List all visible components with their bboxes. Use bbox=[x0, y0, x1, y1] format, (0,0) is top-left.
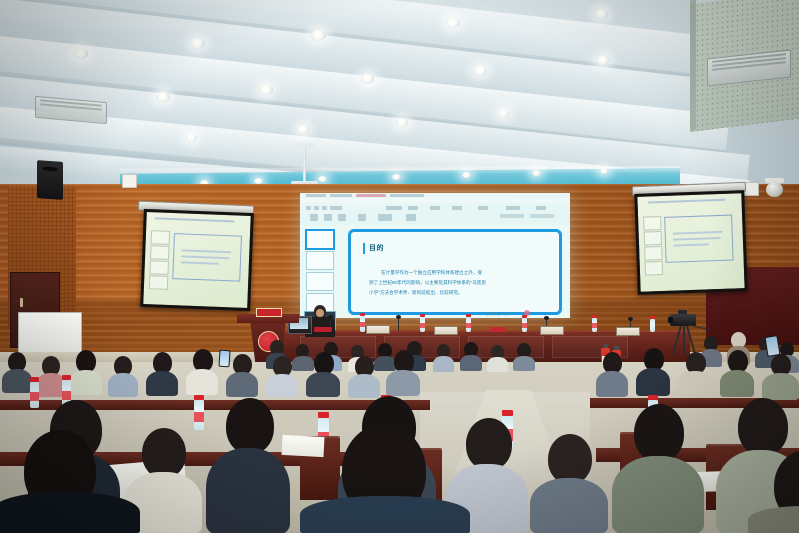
ribbon-tab-chip-3[interactable] bbox=[356, 194, 386, 197]
ribbon-command-b5[interactable] bbox=[378, 214, 392, 221]
door-handle bbox=[20, 298, 23, 307]
audience-person-mid-4 bbox=[108, 356, 138, 396]
dome-security-camera bbox=[766, 182, 783, 197]
slide-title: 目的 bbox=[369, 243, 384, 254]
audience-person-mid-r1 bbox=[596, 352, 628, 396]
projector-mount-pole bbox=[303, 147, 306, 183]
audience-person-mid-7 bbox=[226, 354, 258, 396]
downlight-10 bbox=[597, 56, 609, 65]
red-folder-on-table bbox=[490, 327, 506, 332]
left-projection-screen bbox=[140, 209, 254, 311]
slide-body-line-1: 在计量学作为一个独立应用学科体系建立之外，受 bbox=[381, 269, 553, 276]
presenter-face bbox=[316, 309, 324, 317]
audience-bottle-3 bbox=[194, 400, 204, 430]
projector-ceiling-plate bbox=[296, 143, 314, 148]
camera-viewfinder bbox=[678, 310, 687, 314]
ribbon-command-a10[interactable] bbox=[506, 206, 520, 210]
audience-person-mid-9 bbox=[306, 352, 340, 396]
ribbon-tab-chip-4[interactable] bbox=[390, 194, 424, 197]
downlight-4 bbox=[446, 18, 460, 28]
nameplate-3 bbox=[540, 326, 564, 335]
audience-person-mid-10 bbox=[348, 356, 380, 397]
smartphone-recording-center bbox=[218, 350, 230, 368]
podium-nameplate[interactable] bbox=[256, 308, 282, 317]
slide-thumbnail-2[interactable] bbox=[306, 251, 334, 270]
right-projection-screen bbox=[634, 190, 747, 295]
audience-person-mid-r2 bbox=[636, 348, 670, 395]
table-bottle-6 bbox=[650, 319, 655, 332]
audience-person-mid-5 bbox=[146, 352, 178, 395]
table-bottle-4 bbox=[522, 318, 527, 332]
audience-person-far-9 bbox=[487, 345, 508, 371]
ribbon-command-b1[interactable] bbox=[310, 214, 318, 221]
slide-thumbnail-1[interactable] bbox=[306, 230, 334, 249]
downlight-13 bbox=[498, 109, 509, 118]
audience-person-far-10 bbox=[513, 343, 535, 370]
slide-editing-canvas[interactable]: 目的 在计量学作为一个独立应用学科体系建立之外，受 到了上世纪80年代的影响，以… bbox=[336, 225, 570, 318]
ribbon-command-a6[interactable] bbox=[408, 206, 418, 210]
current-slide[interactable]: 目的 在计量学作为一个独立应用学科体系建立之外，受 到了上世纪80年代的影响，以… bbox=[348, 229, 562, 315]
slide-thumbnail-3[interactable] bbox=[306, 272, 334, 291]
downlight-9 bbox=[474, 66, 487, 76]
ribbon-command-a2[interactable] bbox=[314, 206, 319, 210]
audience-person-mid-1 bbox=[2, 352, 32, 392]
audience-person-near-7 bbox=[612, 404, 704, 533]
ribbon-command-b4[interactable] bbox=[358, 214, 366, 221]
acoustic-edge bbox=[690, 0, 696, 130]
audience-person-mid-8 bbox=[266, 356, 298, 396]
downlight-7 bbox=[259, 85, 273, 95]
ribbon-command-a7[interactable] bbox=[430, 206, 440, 210]
downlight-14 bbox=[186, 134, 197, 142]
downlight-6 bbox=[156, 92, 170, 102]
ribbon-command-a1[interactable] bbox=[306, 206, 311, 210]
downlight-12 bbox=[396, 118, 408, 127]
conference-hall-photo: 目的 在计量学作为一个独立应用学科体系建立之外，受 到了上世纪80年代的影响，以… bbox=[0, 0, 799, 533]
wall-speaker bbox=[37, 160, 63, 200]
ribbon-command-b3[interactable] bbox=[338, 214, 346, 221]
ribbon-tab-chip-1[interactable] bbox=[306, 194, 326, 197]
cove-downlight-7 bbox=[600, 168, 608, 174]
ribbon-command-a4[interactable] bbox=[330, 206, 342, 210]
ribbon-command-a8[interactable] bbox=[452, 206, 462, 210]
wall-control-plate-right bbox=[744, 182, 759, 196]
wall-control-plate-left bbox=[122, 174, 137, 188]
downlight-1 bbox=[74, 48, 88, 59]
nameplate-1 bbox=[366, 325, 390, 334]
audience-person-mid-3 bbox=[70, 350, 102, 394]
downlight-5 bbox=[595, 9, 608, 19]
red-tray-on-table bbox=[314, 327, 332, 332]
ribbon-command-b6[interactable] bbox=[406, 214, 416, 221]
microphone-head-5 bbox=[628, 317, 633, 321]
downlight-3 bbox=[311, 30, 326, 41]
table-bottle-3 bbox=[466, 317, 471, 332]
ribbon-command-b2[interactable] bbox=[324, 214, 332, 221]
slide-status-bar: 幻灯片 第 3 张 bbox=[486, 311, 508, 316]
table-bottle-2 bbox=[420, 317, 425, 332]
cove-downlight-5 bbox=[462, 172, 471, 178]
main-projection-screen: 目的 在计量学作为一个独立应用学科体系建立之外，受 到了上世纪80年代的影响，以… bbox=[300, 193, 570, 318]
slide-body-line-2: 到了上世纪80年代的影响，以主要及其科学体系的"马克思 bbox=[369, 279, 553, 286]
microphone-head-2 bbox=[396, 315, 401, 319]
audience-person-mid-r5 bbox=[762, 354, 799, 399]
downlight-11 bbox=[297, 125, 309, 134]
microphone-stem-2 bbox=[398, 318, 399, 331]
ribbon-command-a9[interactable] bbox=[478, 206, 488, 210]
audience-person-mid-r4 bbox=[720, 350, 754, 396]
ribbon-command-a3[interactable] bbox=[322, 206, 327, 210]
ribbon-command-a5[interactable] bbox=[386, 206, 402, 210]
audience-person-front-right bbox=[748, 450, 799, 533]
downlight-2 bbox=[190, 38, 205, 49]
cove-downlight-4 bbox=[392, 174, 401, 180]
ribbon-command-a11[interactable] bbox=[536, 206, 546, 210]
slide-title-accent-bar bbox=[363, 243, 365, 254]
cove-downlight-3 bbox=[318, 176, 327, 182]
audience-person-near-6 bbox=[530, 434, 608, 533]
audience-person-mid-11 bbox=[386, 350, 420, 395]
slide-body-line-3: 小学"方法合学术界、新的前提出、比较研究。 bbox=[369, 289, 553, 296]
microphone-head-1 bbox=[328, 315, 333, 319]
audience-person-front-left bbox=[0, 430, 140, 533]
nameplate-4 bbox=[616, 327, 640, 336]
audience-person-near-3 bbox=[206, 398, 290, 533]
nameplate-2 bbox=[434, 326, 458, 335]
table-bottle-5 bbox=[592, 318, 597, 332]
audience-person-mid-6 bbox=[186, 349, 218, 394]
ribbon-command-b7[interactable] bbox=[500, 214, 524, 218]
ribbon-tab-chip-2[interactable] bbox=[330, 194, 352, 197]
camera-lens bbox=[668, 317, 673, 323]
downlight-8 bbox=[361, 74, 374, 84]
audience-person-mid-r3 bbox=[678, 352, 712, 396]
microphone-head-4 bbox=[544, 316, 549, 320]
audience-person-front-center bbox=[300, 424, 470, 533]
table-bottle-1 bbox=[360, 316, 365, 332]
audience-person-far-7 bbox=[433, 344, 454, 371]
cove-downlight-6 bbox=[532, 170, 541, 176]
ribbon-command-b8[interactable] bbox=[530, 214, 554, 218]
audience-person-far-8 bbox=[460, 342, 482, 370]
